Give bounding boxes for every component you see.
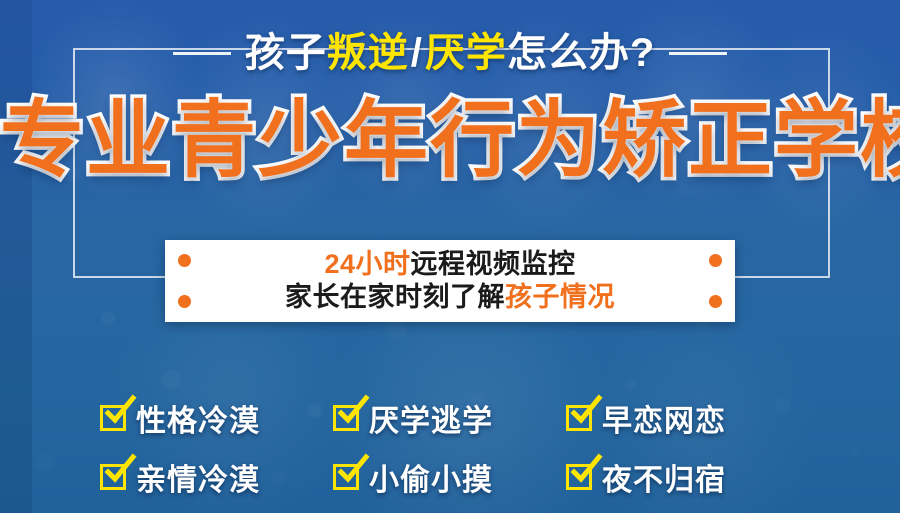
page-title: 专业青少年行为矫正学校 xyxy=(0,98,900,182)
list-item[interactable]: 早恋网恋 xyxy=(566,396,799,440)
top-question-highlight-1: 叛逆 xyxy=(327,31,409,75)
top-question-text: 孩子叛逆/厌学怎么办? xyxy=(231,33,670,73)
info-line-1-rest: 远程视频监控 xyxy=(411,249,576,279)
checklist-row: 亲情冷漠 小偷小摸 夜不归宿 xyxy=(100,455,800,499)
checkbox-checked-icon[interactable] xyxy=(566,464,592,490)
checkbox-checked-icon[interactable] xyxy=(333,464,359,490)
info-line-2-rest: 家长在家时刻了解 xyxy=(285,282,505,312)
list-item[interactable]: 厌学逃学 xyxy=(333,396,566,440)
info-line-1: 24小时远程视频监控 xyxy=(324,249,575,281)
info-line-2: 家长在家时刻了解孩子情况 xyxy=(285,282,615,314)
info-line-2-highlight: 孩子情况 xyxy=(505,282,615,312)
top-question-highlight-2: 厌学 xyxy=(425,31,507,75)
list-item[interactable]: 性格冷漠 xyxy=(100,396,333,440)
checklist-label: 早恋网恋 xyxy=(602,396,726,440)
promo-banner: 孩子叛逆/厌学怎么办? 专业青少年行为矫正学校 24小时远程视频监控 家长在家时… xyxy=(0,0,900,513)
info-line-1-highlight: 24小时 xyxy=(324,249,410,279)
list-item[interactable]: 亲情冷漠 xyxy=(100,455,333,499)
checklist-label: 小偷小摸 xyxy=(369,455,493,499)
top-question-suffix: 怎么办? xyxy=(507,31,655,75)
checkbox-checked-icon[interactable] xyxy=(100,405,126,431)
list-item[interactable]: 夜不归宿 xyxy=(566,455,799,499)
checklist-label: 亲情冷漠 xyxy=(136,455,260,499)
checklist-row: 性格冷漠 厌学逃学 早恋网恋 xyxy=(100,396,800,440)
top-question-prefix: 孩子 xyxy=(245,31,327,75)
rule-left-icon xyxy=(173,52,231,55)
checklist-label: 夜不归宿 xyxy=(602,455,726,499)
rule-right-icon xyxy=(669,52,727,55)
top-question-line: 孩子叛逆/厌学怎么办? xyxy=(0,25,900,81)
checklist-label: 性格冷漠 xyxy=(136,396,260,440)
checkbox-checked-icon[interactable] xyxy=(566,405,592,431)
checklist-label: 厌学逃学 xyxy=(369,396,493,440)
checkbox-checked-icon[interactable] xyxy=(100,464,126,490)
info-box-text: 24小时远程视频监控 家长在家时刻了解孩子情况 xyxy=(165,240,735,322)
list-item[interactable]: 小偷小摸 xyxy=(333,455,566,499)
symptom-checklist: 性格冷漠 厌学逃学 早恋网恋 亲情冷漠 xyxy=(100,396,800,499)
info-box: 24小时远程视频监控 家长在家时刻了解孩子情况 xyxy=(165,240,735,322)
top-question-slash: / xyxy=(409,31,425,75)
checkbox-checked-icon[interactable] xyxy=(333,405,359,431)
